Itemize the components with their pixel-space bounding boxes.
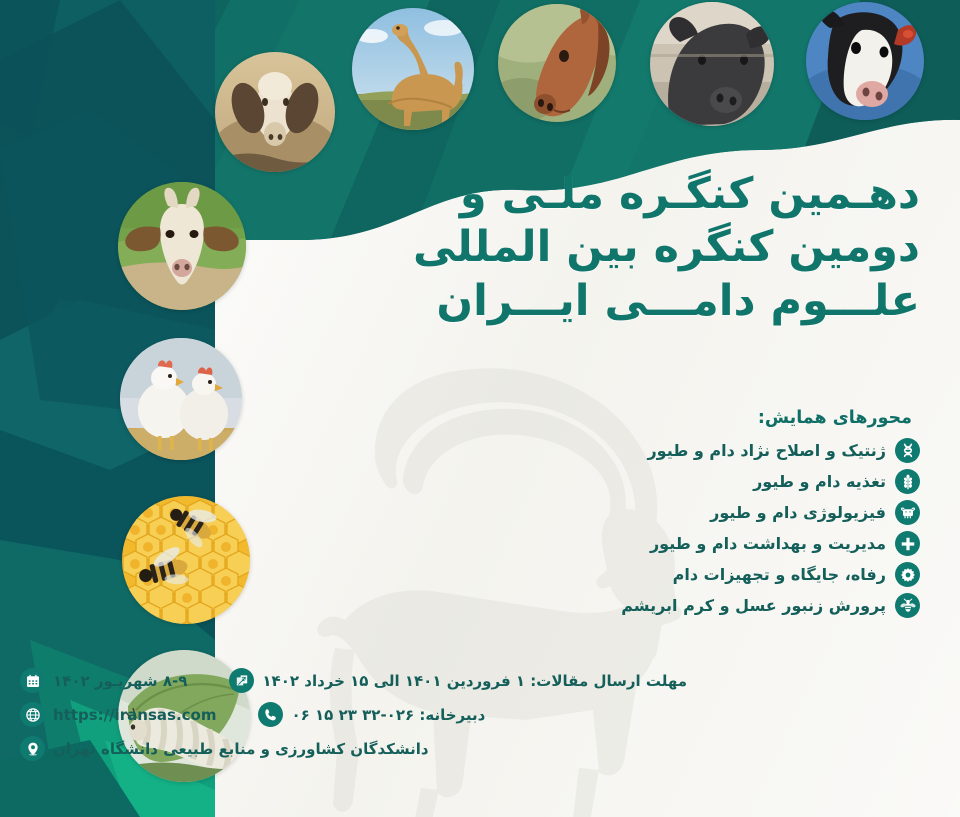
title-line-2: دومین کنگره بین المللی: [300, 221, 920, 274]
cross-icon: [895, 531, 920, 556]
dna-icon: [895, 438, 920, 463]
footer-info: مهلت ارسال مقالات: ۱ فروردین ۱۴۰۱ الی ۱۵…: [20, 668, 920, 770]
globe-icon[interactable]: [20, 702, 45, 727]
topic-row-apiculture: پرورش زنبور عسل و کرم ابریشم: [360, 593, 920, 618]
topic-label: ژنتیک و اصلاح نژاد دام و طیور: [647, 441, 886, 460]
congress-poster: دهـمین کنگـره ملـی و دومین کنگره بین الم…: [0, 0, 960, 817]
topic-row-physiology: فیزیولوژی دام و طیور: [360, 500, 920, 525]
topic-row-health: مدیریت و بهداشت دام و طیور: [360, 531, 920, 556]
topic-row-welfare: رفاه، جایگاه و تجهیزات دام: [360, 562, 920, 587]
website-link[interactable]: https://iransas.com: [53, 706, 216, 724]
footer-row-venue: دانشکدگان کشاورزی و منابع طبیعی دانشگاه …: [20, 736, 920, 761]
venue-text: دانشکدگان کشاورزی و منابع طبیعی دانشگاه …: [53, 740, 429, 758]
bee-icon: [895, 593, 920, 618]
topic-row-nutrition: تغذیه دام و طیور: [360, 469, 920, 494]
topics-section: محورهای همایش: ژنتیک و اصلاح نژاد دام و …: [360, 408, 920, 624]
wheat-icon: [895, 469, 920, 494]
topic-label: فیزیولوژی دام و طیور: [710, 503, 886, 522]
cow-icon: [895, 500, 920, 525]
gear-icon: [895, 562, 920, 587]
goat-photo: [118, 182, 246, 310]
footer-row-dates: مهلت ارسال مقالات: ۱ فروردین ۱۴۰۱ الی ۱۵…: [20, 668, 920, 693]
phone-icon[interactable]: [258, 702, 283, 727]
chicken-photo: [120, 338, 242, 460]
congress-date-text: ۸-۹ شهریـور ۱۴۰۲: [53, 672, 187, 690]
title-line-3: علـــوم دامـــی ایـــران: [300, 275, 920, 328]
topic-row-genetics: ژنتیک و اصلاح نژاد دام و طیور: [360, 438, 920, 463]
buffalo-photo: [650, 2, 774, 126]
horse-photo: [498, 4, 616, 122]
cow-photo: [806, 2, 924, 120]
sheep-photo: [215, 52, 335, 172]
paper-submit-icon: [229, 668, 254, 693]
location-pin-icon: [20, 736, 45, 761]
topics-heading: محورهای همایش:: [360, 408, 912, 428]
camel-photo: [352, 8, 474, 130]
secretariat-phone-text: دبیرخانه: ۰۲۶-۳۲ ۲۳ ۱۵ ۰۶: [291, 706, 485, 724]
deadline-text: مهلت ارسال مقالات: ۱ فروردین ۱۴۰۱ الی ۱۵…: [262, 672, 687, 690]
topic-label: رفاه، جایگاه و تجهیزات دام: [673, 565, 886, 584]
poster-title: دهـمین کنگـره ملـی و دومین کنگره بین الم…: [300, 168, 920, 328]
topic-label: تغذیه دام و طیور: [753, 472, 886, 491]
bee-photo: [122, 496, 250, 624]
topic-label: مدیریت و بهداشت دام و طیور: [650, 534, 886, 553]
footer-row-contact: دبیرخانه: ۰۲۶-۳۲ ۲۳ ۱۵ ۰۶ https://iransa…: [20, 702, 920, 727]
topic-label: پرورش زنبور عسل و کرم ابریشم: [621, 596, 886, 615]
calendar-icon: [20, 668, 45, 693]
title-line-1: دهـمین کنگـره ملـی و: [300, 168, 920, 221]
